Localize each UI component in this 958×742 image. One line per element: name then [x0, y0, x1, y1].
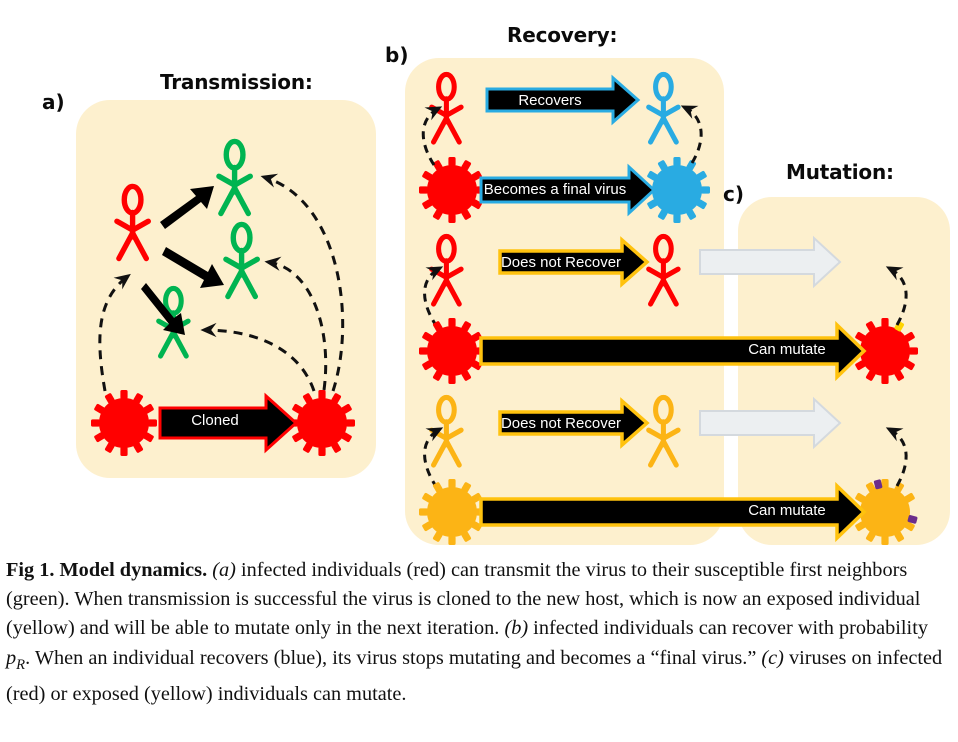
arrow-label-can-mutate-yellow: Can mutate	[737, 502, 837, 519]
caption-title: Model dynamics.	[60, 559, 208, 581]
caption-part-a-tag: (a)	[212, 559, 236, 581]
panel-c-mutation	[738, 197, 950, 545]
arrow-label-does-not-recover-red: Does not Recover	[500, 254, 622, 271]
panel-letter-b: b)	[385, 43, 408, 67]
figure-caption: Fig 1. Model dynamics. (a) infected indi…	[6, 556, 952, 709]
panel-title-transmission: Transmission:	[160, 70, 313, 94]
arrow-label-cloned: Cloned	[160, 412, 270, 429]
caption-part-c-tag: (c)	[761, 647, 784, 669]
panel-title-recovery: Recovery:	[507, 23, 617, 47]
caption-part-b-text-2: . When an individual recovers (blue), it…	[25, 647, 761, 669]
arrow-label-recovers: Recovers	[487, 92, 613, 109]
arrow-label-does-not-recover-yellow: Does not Recover	[500, 415, 622, 432]
panel-title-mutation: Mutation:	[786, 160, 894, 184]
caption-symbol-pr: pR	[6, 647, 25, 669]
figure-root: a) b) c) Transmission: Recovery: Mutatio…	[0, 0, 958, 742]
panel-b-recovery	[405, 58, 724, 545]
caption-label: Fig 1.	[6, 559, 54, 581]
arrow-label-becomes-final-virus: Becomes a final virus	[481, 181, 629, 198]
panel-letter-a: a)	[42, 90, 65, 114]
arrow-label-can-mutate-red: Can mutate	[737, 341, 837, 358]
panel-letter-c: c)	[723, 182, 744, 206]
caption-part-b-text-1: infected individuals can recover with pr…	[528, 617, 928, 639]
caption-part-b-tag: (b)	[504, 617, 528, 639]
